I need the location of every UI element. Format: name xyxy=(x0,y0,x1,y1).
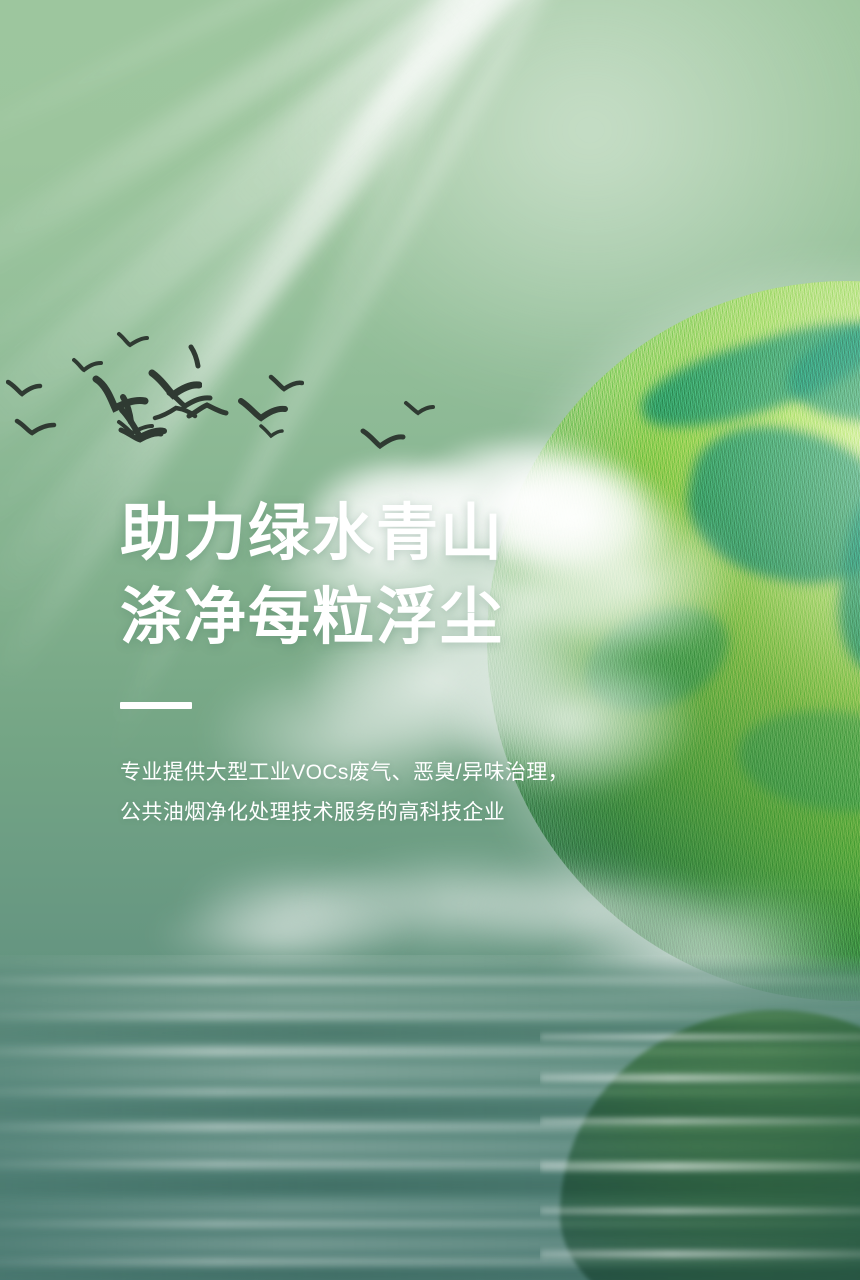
sun-glow xyxy=(140,0,860,520)
page-title-line-2: 涤净每粒浮尘 xyxy=(120,576,740,660)
subtitle-line-2: 公共油烟净化处理技术服务的高科技企业 xyxy=(120,793,740,833)
eco-banner-poster: 助力绿水青山 涤净每粒浮尘 专业提供大型工业VOCs废气、恶臭/异味治理， 公共… xyxy=(0,0,860,1280)
water-surface xyxy=(0,955,860,1280)
title-divider xyxy=(120,702,192,709)
page-title-line-1: 助力绿水青山 xyxy=(120,492,740,576)
subtitle-line-1: 专业提供大型工业VOCs废气、恶臭/异味治理， xyxy=(120,709,740,793)
banner-text-block: 助力绿水青山 涤净每粒浮尘 专业提供大型工业VOCs废气、恶臭/异味治理， 公共… xyxy=(120,492,740,833)
